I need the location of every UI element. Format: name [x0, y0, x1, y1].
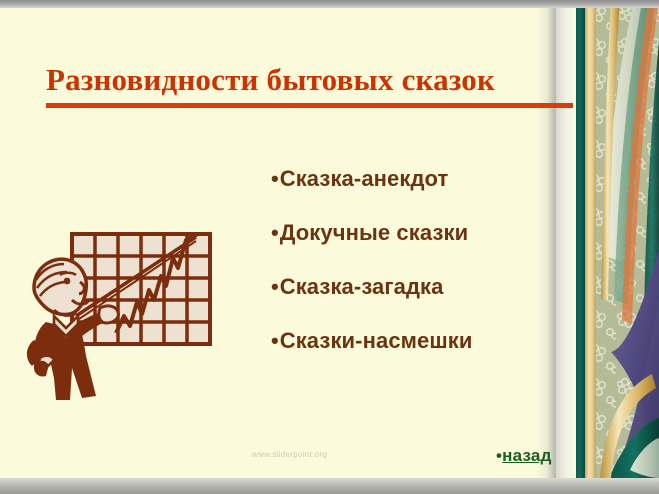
bullet-marker-icon: •	[271, 222, 279, 244]
bullet-marker-icon: •	[271, 168, 279, 190]
list-item: • Сказка-загадка	[271, 274, 561, 328]
border-teal-strip	[576, 0, 585, 494]
list-item-label: Сказка-анекдот	[280, 166, 449, 192]
slide-canvas: Разновидности бытовых сказок	[0, 0, 659, 494]
list-item: • Докучные сказки	[271, 220, 561, 274]
window-bottom-band	[0, 478, 659, 494]
border-gold-strip	[585, 0, 596, 494]
back-link[interactable]: •назад	[496, 446, 552, 466]
page-title: Разновидности бытовых сказок	[46, 64, 576, 97]
window-top-band	[0, 0, 659, 8]
back-link-label[interactable]: назад	[502, 446, 551, 465]
list-item-label: Сказки-насмешки	[280, 328, 473, 354]
bullet-list: • Сказка-анекдот • Докучные сказки • Ска…	[271, 166, 561, 382]
list-item: • Сказки-насмешки	[271, 328, 561, 382]
bullet-marker-icon: •	[271, 276, 279, 298]
presenter-with-growth-chart-illustration	[20, 228, 220, 403]
bullet-marker-icon: •	[271, 330, 279, 352]
watermark-text: www.sliderpoint.org	[252, 450, 327, 459]
title-underline	[46, 103, 573, 108]
list-item: • Сказка-анекдот	[271, 166, 561, 220]
list-item-label: Сказка-загадка	[280, 274, 444, 300]
list-item-label: Докучные сказки	[280, 220, 469, 246]
